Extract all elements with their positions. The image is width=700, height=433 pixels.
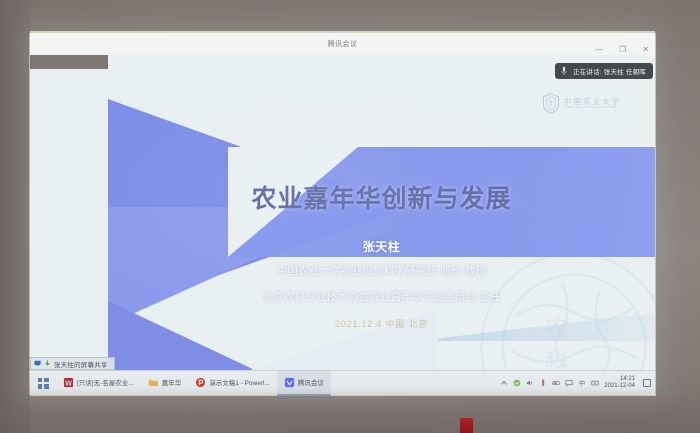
wall-bottom-shadow [0, 387, 700, 433]
clock-time: 14:21 [620, 376, 635, 383]
red-object-on-table [460, 418, 473, 433]
speaking-indicator-toast: 正在讲话: 张天柱 任朝晖 [555, 63, 653, 79]
cau-name-en: China Agricultural University [564, 106, 621, 110]
meeting-title-bar: 腾讯会议 — ❐ ✕ [30, 33, 655, 55]
window-left-notch [30, 55, 108, 69]
taskbar-label-powerpoint: 演示文稿1 - Powerl... [209, 377, 270, 387]
chevron-up-icon[interactable] [500, 379, 508, 387]
arrow-down-icon [44, 360, 51, 367]
slide-presenter-name: 张天柱 [108, 238, 655, 255]
powerpoint-slide: 农 科 大 中国农业大学 China Agricultural Universi… [108, 55, 655, 395]
window-controls: — ❐ ✕ [595, 46, 649, 54]
slide-title: 农业嘉年华创新与发展 [108, 179, 655, 215]
ime-cn-icon[interactable]: 中 [578, 379, 586, 387]
svg-text:W: W [65, 379, 72, 387]
cau-logo-text: 中国农业大学 China Agricultural University [564, 98, 621, 110]
close-icon[interactable]: ✕ [642, 46, 649, 54]
keyboard-icon[interactable] [591, 379, 599, 387]
slide-affiliation-line-1: 中国农业大学农业规划科学研究所 所长 教授 [108, 263, 655, 278]
maximize-icon[interactable]: ❐ [619, 46, 626, 54]
battery-icon[interactable] [539, 379, 547, 387]
svg-text:中: 中 [579, 379, 585, 387]
screen-share-label: 张天柱的屏幕共享 [54, 359, 108, 369]
slide-affiliation-line-2: 北京农村专业技术协会农业嘉年华专业委员会 主任 [108, 289, 655, 304]
shield-green-icon[interactable] [513, 379, 521, 387]
slide-date-location: 2021.12.4 中国 北京 [108, 317, 655, 330]
tencent-meeting-icon [284, 377, 295, 388]
projected-screen: 腾讯会议 — ❐ ✕ 农 科 大 [30, 33, 655, 395]
powerpoint-icon [195, 377, 206, 388]
cau-shield-icon [542, 93, 560, 114]
taskbar-label-tencent-meeting: 腾讯会议 [298, 377, 324, 387]
monitor-icon [34, 360, 41, 367]
screen-share-banner: 张天柱的屏幕共享 [30, 357, 115, 370]
word-icon: W [63, 377, 74, 388]
meeting-window-title: 腾讯会议 [328, 39, 358, 49]
folder-icon [148, 377, 159, 388]
network-icon[interactable] [552, 379, 560, 387]
taskbar-label-word: [只读]无-名屋农业... [77, 377, 134, 387]
action-center-icon[interactable] [643, 379, 651, 387]
microphone-icon [561, 66, 567, 76]
message-icon[interactable] [565, 379, 573, 387]
speaking-indicator-text: 正在讲话: 张天柱 任朝晖 [573, 66, 646, 76]
speaker-icon[interactable] [526, 379, 534, 387]
taskbar-label-folder: 嘉年华 [162, 377, 182, 387]
cau-logo: 中国农业大学 China Agricultural University [542, 93, 621, 114]
minimize-icon[interactable]: — [595, 46, 603, 54]
wall-left-pillar [0, 0, 30, 433]
